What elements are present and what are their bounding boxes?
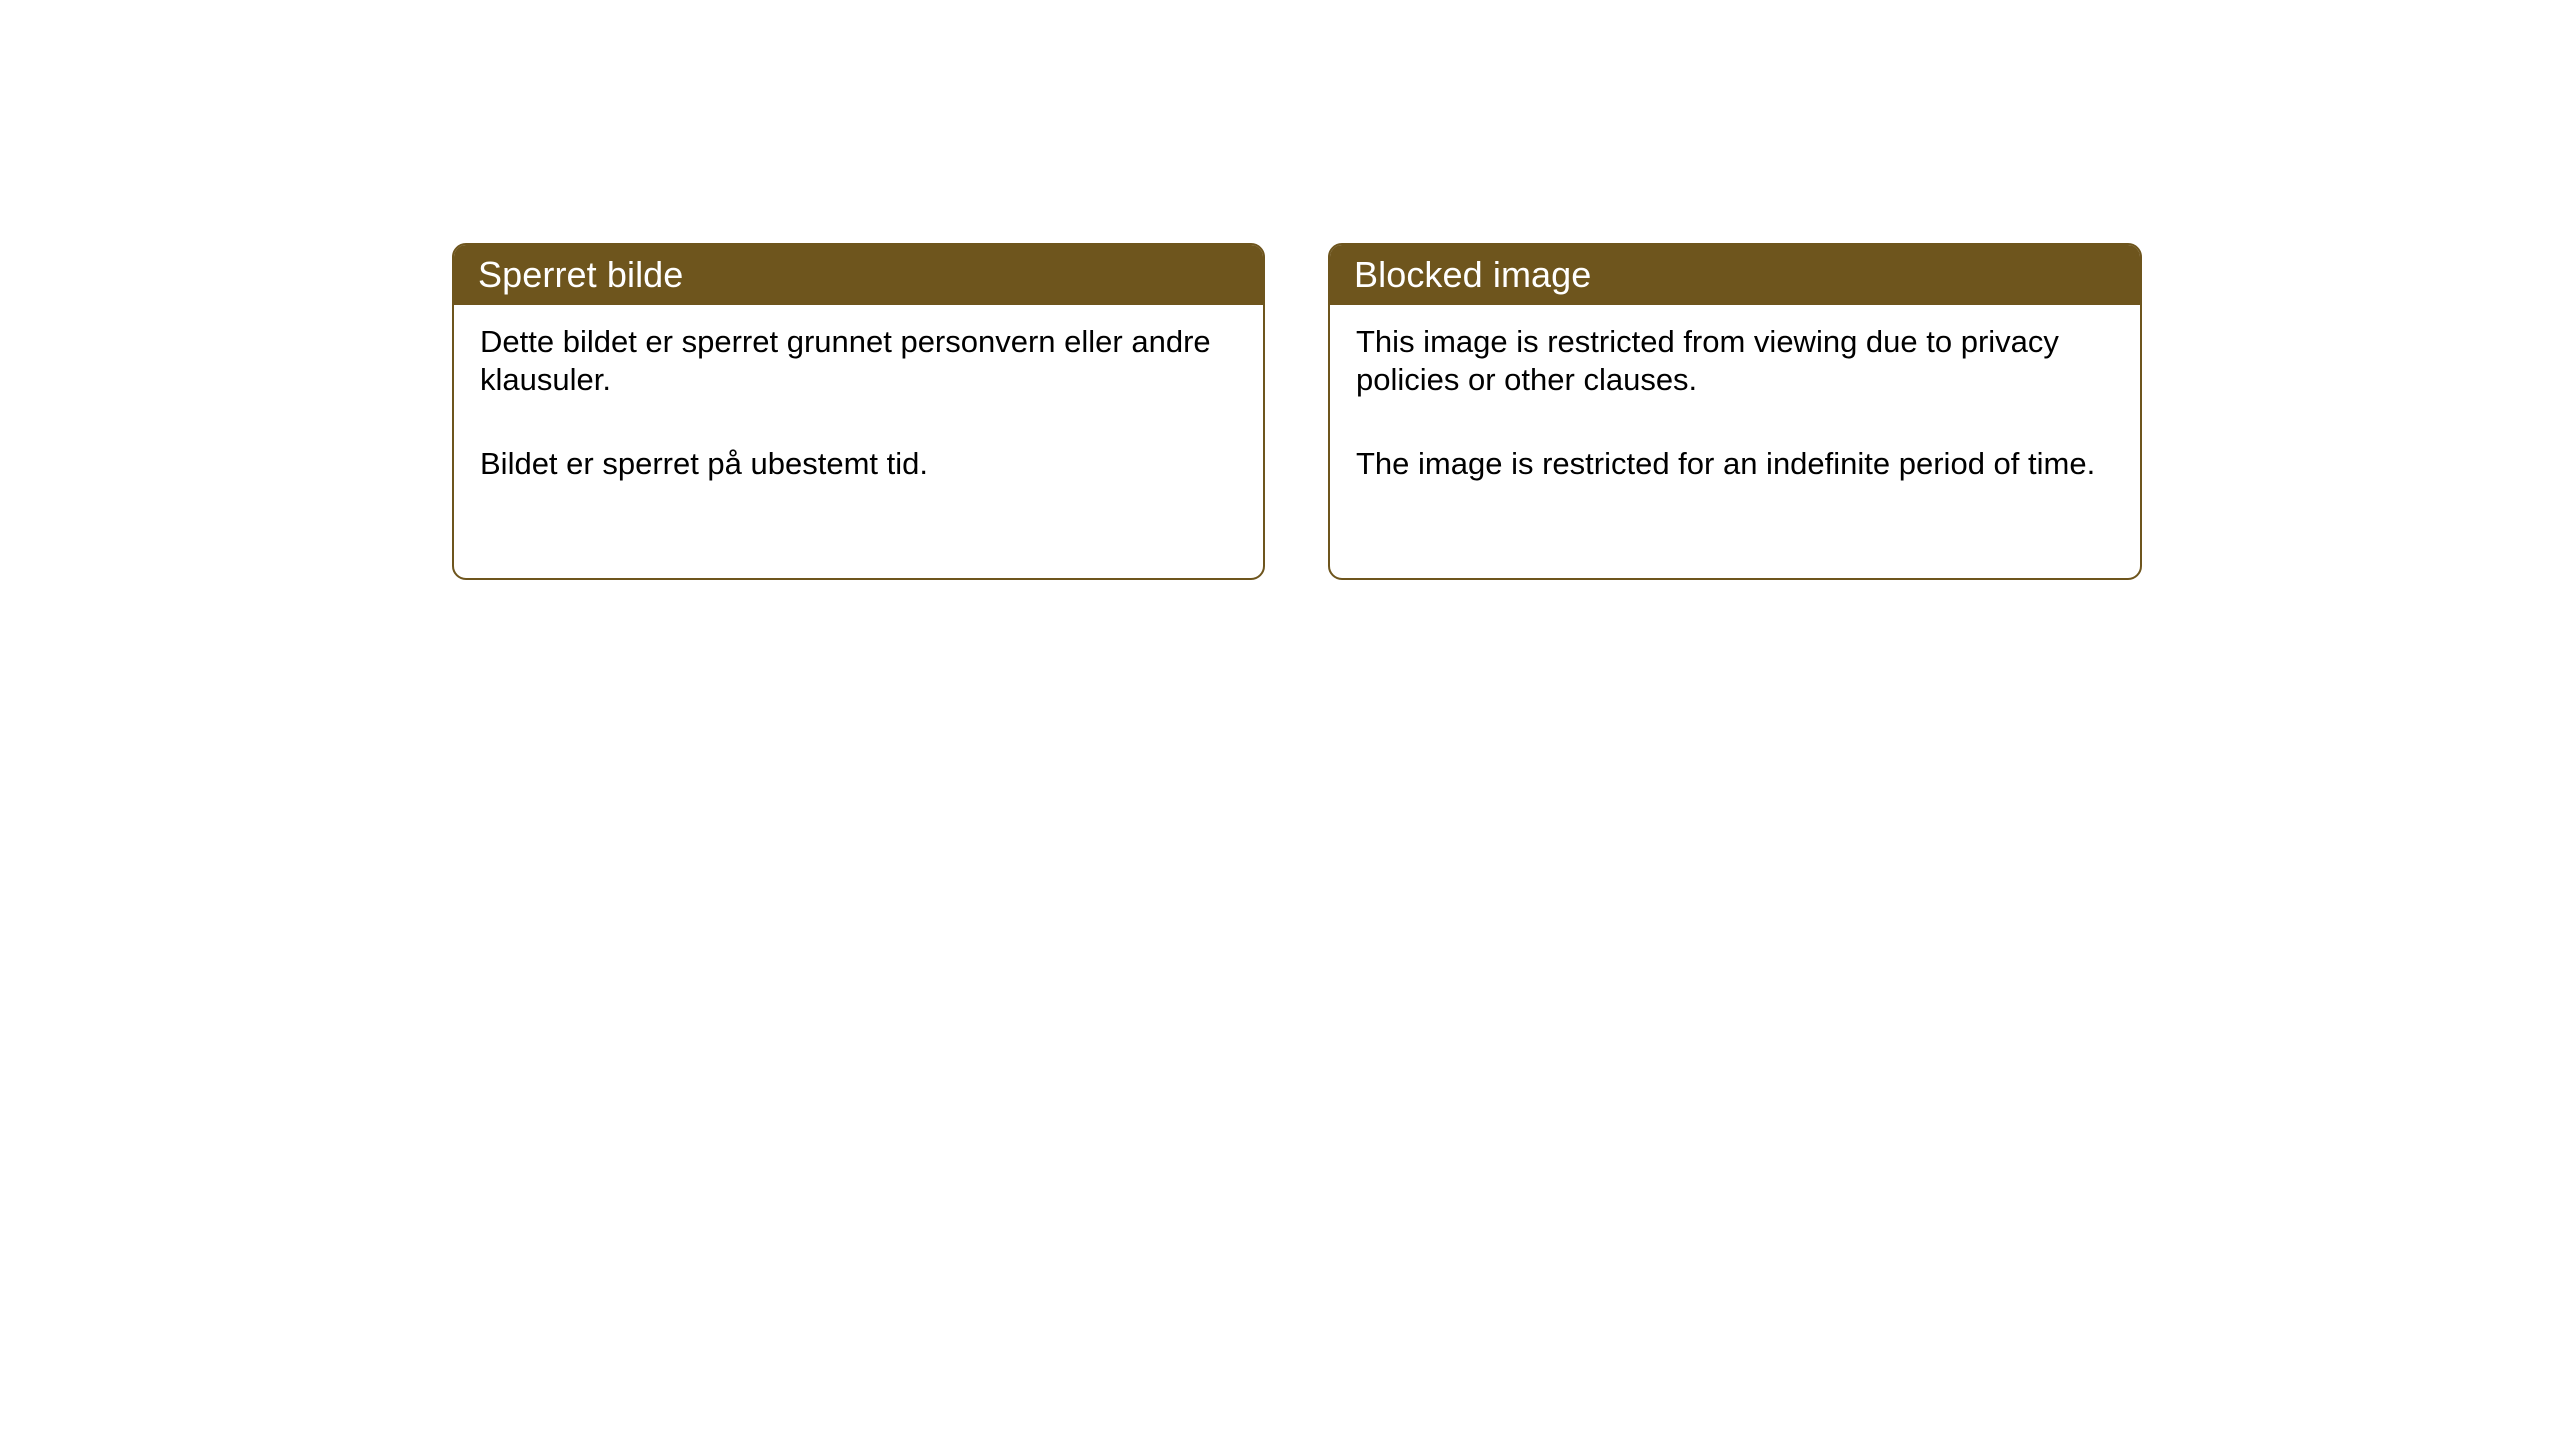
blocked-image-notice-norwegian: Sperret bilde Dette bildet er sperret gr… — [452, 243, 1265, 580]
panel-paragraph-primary-english: This image is restricted from viewing du… — [1356, 323, 2114, 399]
panel-paragraph-secondary-norwegian: Bildet er sperret på ubestemt tid. — [480, 445, 1237, 483]
panel-title-english: Blocked image — [1354, 257, 1591, 293]
panel-paragraph-secondary-english: The image is restricted for an indefinit… — [1356, 445, 2114, 483]
panel-body-english: This image is restricted from viewing du… — [1330, 305, 2140, 482]
panel-header-english: Blocked image — [1330, 245, 2140, 305]
panel-body-norwegian: Dette bildet er sperret grunnet personve… — [454, 305, 1263, 482]
panel-title-norwegian: Sperret bilde — [478, 257, 683, 293]
panel-paragraph-primary-norwegian: Dette bildet er sperret grunnet personve… — [480, 323, 1237, 399]
panel-header-norwegian: Sperret bilde — [454, 245, 1263, 305]
page-canvas: Sperret bilde Dette bildet er sperret gr… — [0, 0, 2560, 1440]
blocked-image-notice-english: Blocked image This image is restricted f… — [1328, 243, 2142, 580]
